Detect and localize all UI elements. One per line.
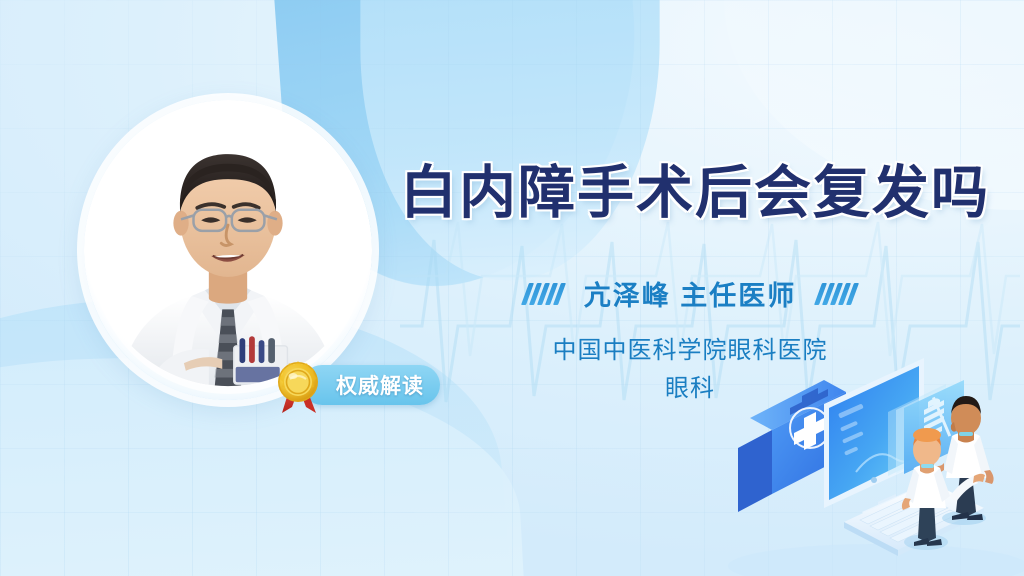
status-badge: 权威解读 <box>272 364 326 406</box>
doctor-portrait <box>84 100 372 400</box>
doctor-name-and-title: 亢泽峰 主任医师 <box>584 274 797 313</box>
video-cover-canvas: 权威解读 <box>0 0 1024 576</box>
left-slash-ornament <box>525 283 562 305</box>
right-slash-ornament <box>818 283 855 305</box>
doctor-credential-line: 亢泽峰 主任医师 <box>400 274 980 313</box>
gold-medal-icon <box>272 357 326 413</box>
page-title: 白内障手术后会复发吗 <box>400 164 980 224</box>
isometric-medical-scene <box>728 352 1024 576</box>
portrait-photo <box>90 106 366 394</box>
